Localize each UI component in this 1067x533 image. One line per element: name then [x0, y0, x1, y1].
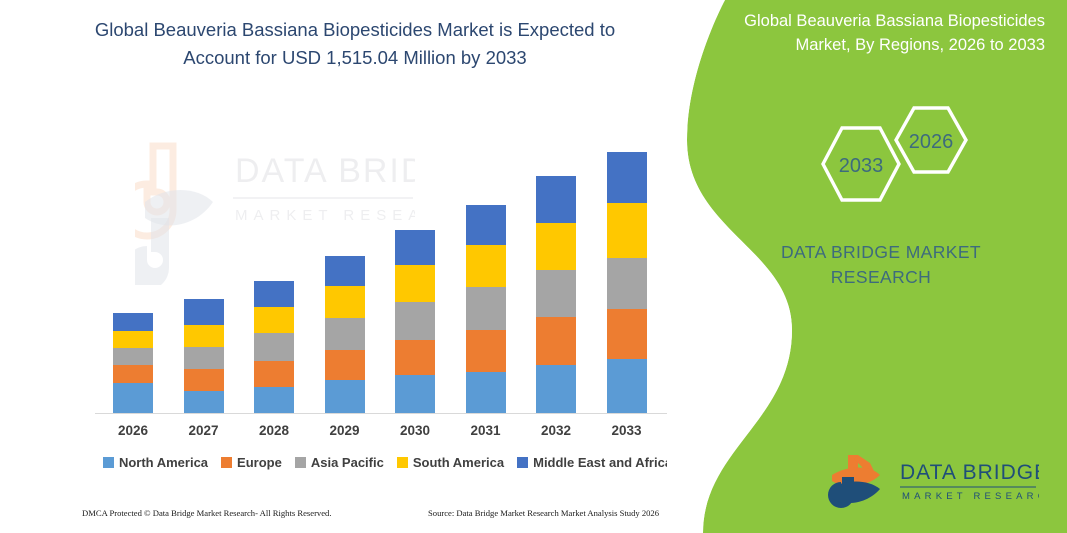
legend-label: South America — [413, 455, 504, 470]
hexagon-group: 2026 2033 — [782, 100, 1042, 210]
x-axis-label-2026: 2026 — [98, 423, 168, 438]
bar-segment-north-america-2032 — [536, 365, 576, 413]
bar-segment-asia-pacific-2026 — [113, 348, 153, 365]
bar-segment-asia-pacific-2033 — [607, 258, 647, 309]
legend-item-north-america[interactable]: North America — [103, 455, 208, 470]
bar-2026 — [113, 313, 153, 413]
bar-2033 — [607, 152, 647, 413]
company-logo-svg: DATA BRIDGE MARKET RESEARCH — [824, 449, 1039, 515]
bar-segment-north-america-2028 — [254, 387, 294, 413]
bar-segment-south-america-2027 — [184, 325, 224, 347]
bar-segment-middle-east-and-africa-2032 — [536, 176, 576, 223]
legend-swatch-icon — [397, 457, 408, 468]
company-logo: DATA BRIDGE MARKET RESEARCH — [824, 449, 1039, 515]
bar-segment-asia-pacific-2027 — [184, 347, 224, 369]
right-panel-brand: DATA BRIDGE MARKET RESEARCH — [731, 240, 1031, 291]
legend-item-south-america[interactable]: South America — [397, 455, 504, 470]
bar-2031 — [466, 205, 506, 413]
bar-segment-asia-pacific-2032 — [536, 270, 576, 317]
x-axis-label-2031: 2031 — [451, 423, 521, 438]
bar-segment-middle-east-and-africa-2029 — [325, 256, 365, 286]
bar-segment-south-america-2026 — [113, 331, 153, 348]
legend-swatch-icon — [103, 457, 114, 468]
brand-line-2: RESEARCH — [731, 265, 1031, 290]
svg-text:DATA BRIDGE: DATA BRIDGE — [900, 461, 1039, 484]
bar-segment-north-america-2031 — [466, 372, 506, 413]
hexagon-2026-label: 2026 — [909, 131, 954, 153]
bar-segment-south-america-2030 — [395, 265, 435, 302]
bar-segment-europe-2033 — [607, 309, 647, 359]
legend-swatch-icon — [295, 457, 306, 468]
bar-segment-north-america-2026 — [113, 383, 153, 413]
bar-segment-north-america-2030 — [395, 375, 435, 413]
footer: DMCA Protected © Data Bridge Market Rese… — [0, 505, 700, 527]
bar-segment-europe-2029 — [325, 350, 365, 380]
footer-copyright: DMCA Protected © Data Bridge Market Rese… — [82, 508, 332, 518]
legend-swatch-icon — [517, 457, 528, 468]
bar-segment-asia-pacific-2029 — [325, 318, 365, 350]
bar-segment-asia-pacific-2030 — [395, 302, 435, 340]
legend-label: Europe — [237, 455, 282, 470]
legend-label: North America — [119, 455, 208, 470]
bar-segment-asia-pacific-2028 — [254, 333, 294, 361]
bar-segment-middle-east-and-africa-2030 — [395, 230, 435, 265]
bar-segment-asia-pacific-2031 — [466, 287, 506, 330]
footer-source: Source: Data Bridge Market Research Mark… — [428, 508, 659, 518]
bar-segment-south-america-2032 — [536, 223, 576, 270]
right-panel: Global Beauveria Bassiana Biopesticides … — [667, 0, 1067, 533]
bar-segment-middle-east-and-africa-2027 — [184, 299, 224, 325]
bar-segment-middle-east-and-africa-2026 — [113, 313, 153, 331]
legend-item-europe[interactable]: Europe — [221, 455, 282, 470]
legend-label: Asia Pacific — [311, 455, 384, 470]
x-axis-label-2029: 2029 — [310, 423, 380, 438]
bar-2029 — [325, 256, 365, 413]
bar-segment-middle-east-and-africa-2031 — [466, 205, 506, 245]
x-axis-label-2027: 2027 — [169, 423, 239, 438]
bar-segment-north-america-2033 — [607, 359, 647, 413]
legend-item-middle-east-and-africa[interactable]: Middle East and Africa — [517, 455, 672, 470]
svg-text:MARKET RESEARCH: MARKET RESEARCH — [902, 491, 1039, 502]
x-axis-label-2030: 2030 — [380, 423, 450, 438]
legend-label: Middle East and Africa — [533, 455, 672, 470]
chart-legend: North AmericaEuropeAsia PacificSouth Ame… — [95, 455, 680, 470]
bar-segment-europe-2030 — [395, 340, 435, 375]
bar-segment-europe-2027 — [184, 369, 224, 391]
bar-2028 — [254, 281, 294, 413]
x-axis-label-2033: 2033 — [592, 423, 662, 438]
bar-segment-south-america-2029 — [325, 286, 365, 318]
infographic-page: Global Beauveria Bassiana Biopesticides … — [0, 0, 1067, 533]
bar-segment-north-america-2029 — [325, 380, 365, 413]
bar-segment-south-america-2028 — [254, 307, 294, 333]
chart-plot-area: 20262027202820292030203120322033 — [0, 0, 700, 533]
hexagon-2033-label: 2033 — [839, 155, 884, 177]
bar-2032 — [536, 176, 576, 413]
hexagon-svg: 2026 2033 — [782, 100, 1042, 210]
x-axis-line — [95, 413, 680, 414]
x-axis-label-2032: 2032 — [521, 423, 591, 438]
bar-segment-south-america-2031 — [466, 245, 506, 287]
x-axis-label-2028: 2028 — [239, 423, 309, 438]
bar-segment-europe-2026 — [113, 365, 153, 383]
bar-segment-south-america-2033 — [607, 203, 647, 258]
bar-segment-europe-2028 — [254, 361, 294, 387]
bar-segment-middle-east-and-africa-2033 — [607, 152, 647, 203]
legend-swatch-icon — [221, 457, 232, 468]
brand-line-1: DATA BRIDGE MARKET — [731, 240, 1031, 265]
bar-segment-europe-2032 — [536, 317, 576, 365]
right-panel-title: Global Beauveria Bassiana Biopesticides … — [735, 10, 1045, 58]
bar-2027 — [184, 299, 224, 413]
bar-segment-europe-2031 — [466, 330, 506, 372]
bar-segment-north-america-2027 — [184, 391, 224, 413]
bar-segment-middle-east-and-africa-2028 — [254, 281, 294, 307]
legend-item-asia-pacific[interactable]: Asia Pacific — [295, 455, 384, 470]
bar-2030 — [395, 230, 435, 413]
